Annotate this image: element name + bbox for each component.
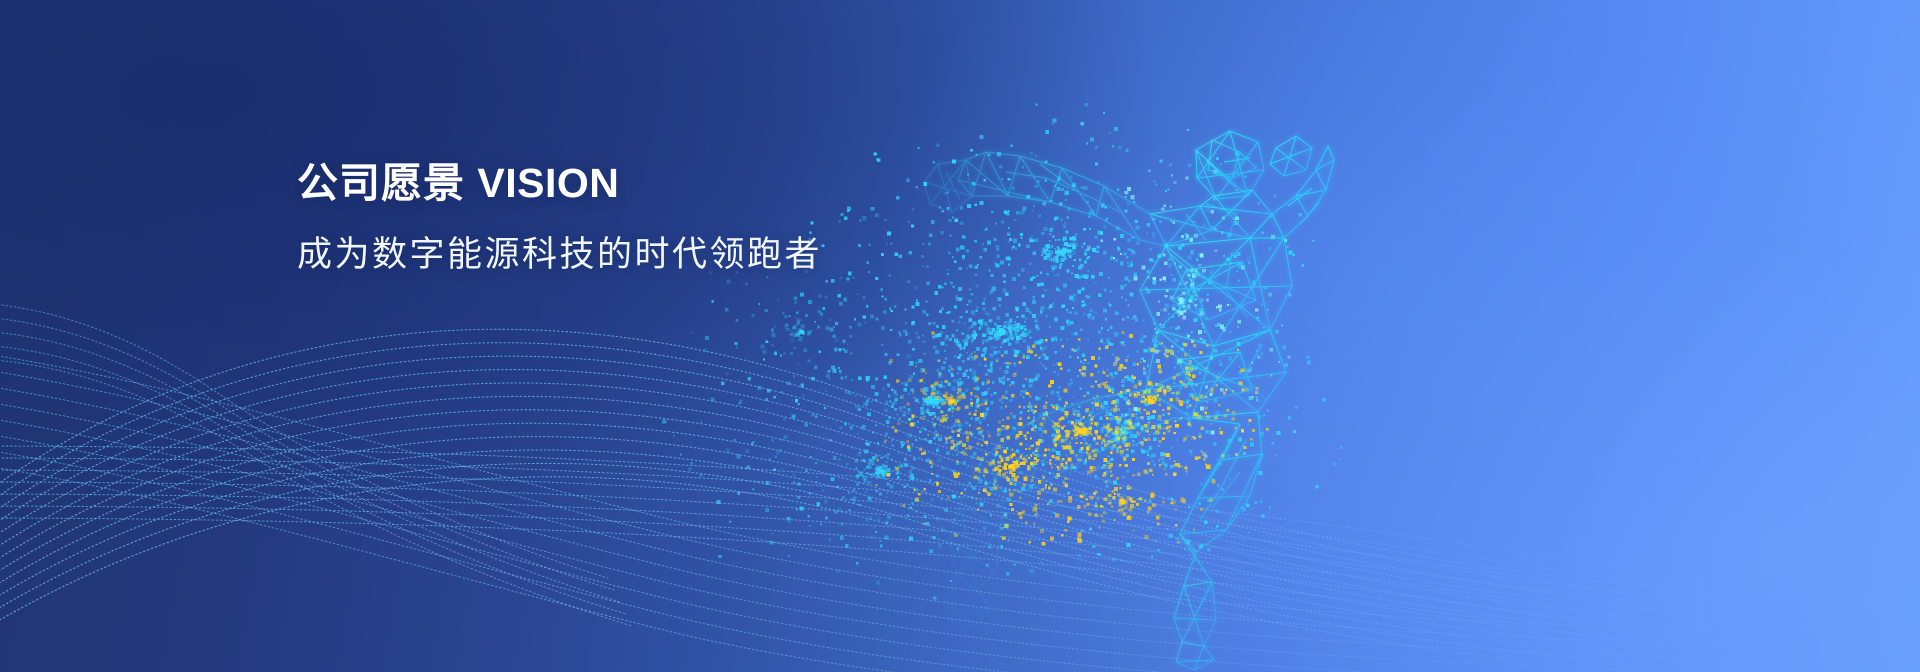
page-subtitle: 成为数字能源科技的时代领跑者	[297, 207, 822, 277]
page-title: 公司愿景 VISION	[297, 160, 822, 207]
runner-wireframe-graphic	[0, 0, 1920, 672]
headline-english: VISION	[477, 160, 619, 206]
vision-hero-banner: 公司愿景 VISION 成为数字能源科技的时代领跑者	[0, 0, 1920, 672]
hero-copy-block: 公司愿景 VISION 成为数字能源科技的时代领跑者	[297, 160, 822, 277]
headline-chinese: 公司愿景	[297, 160, 465, 206]
